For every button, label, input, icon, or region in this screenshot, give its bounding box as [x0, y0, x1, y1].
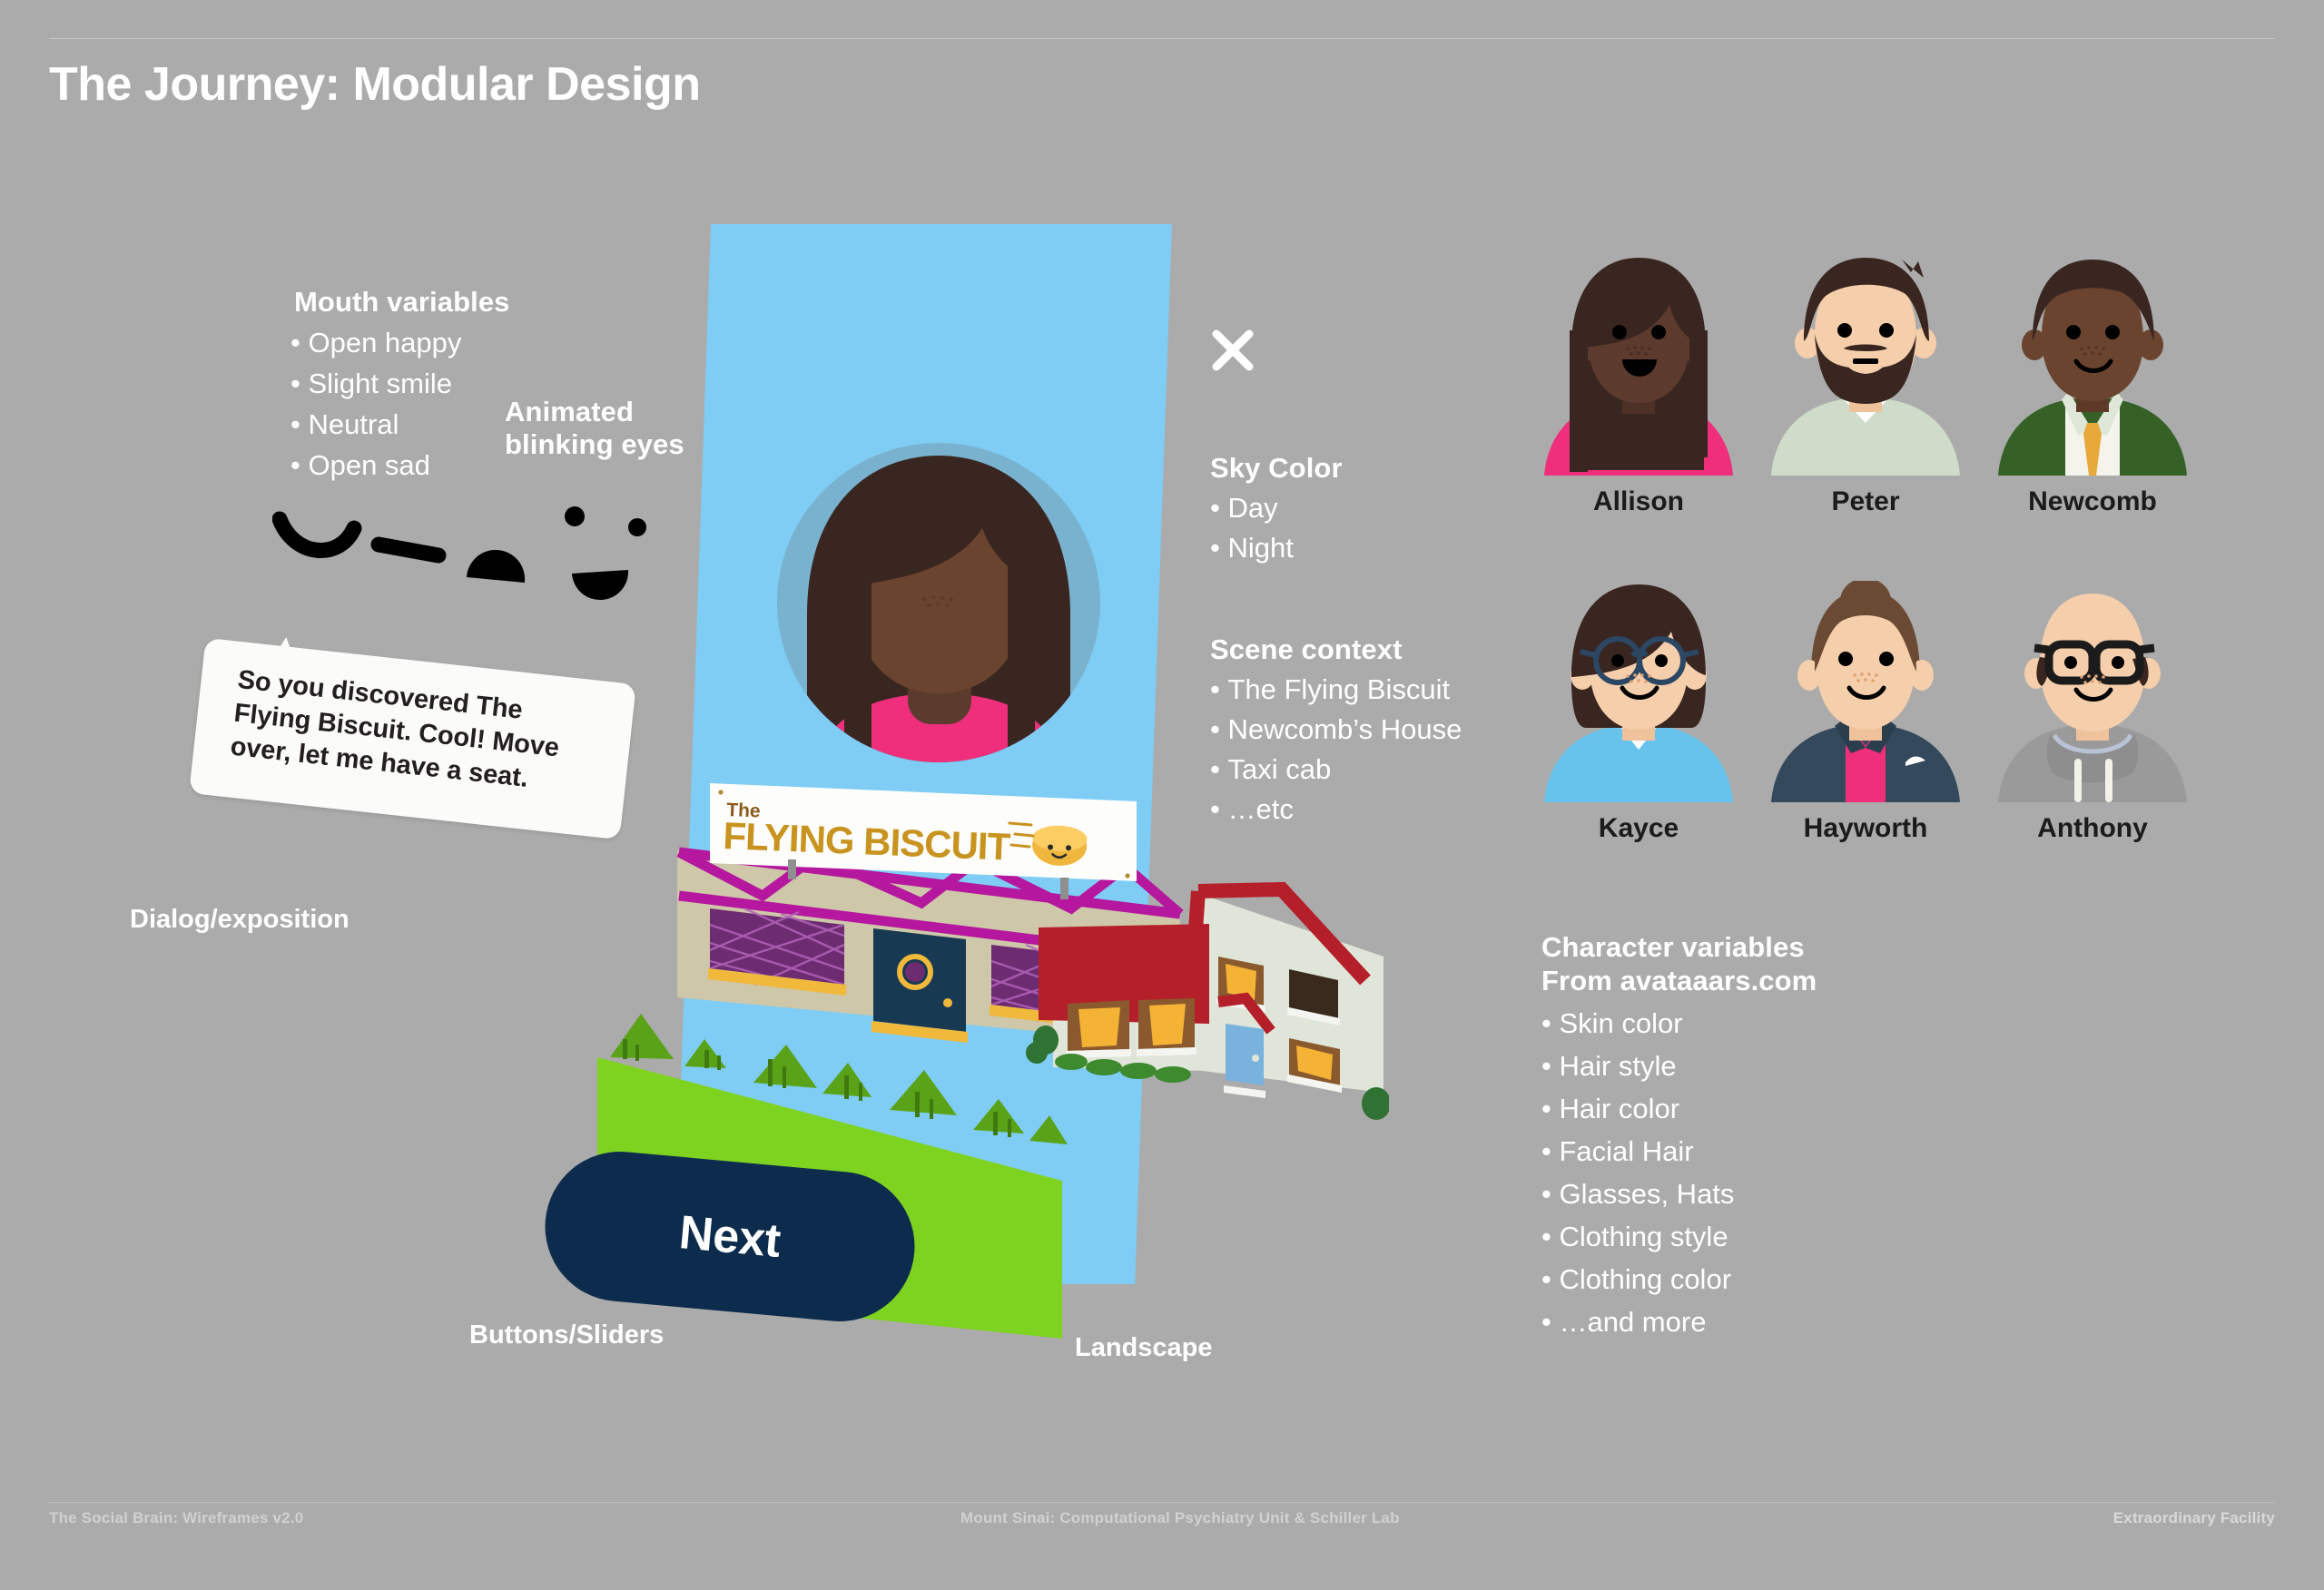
avatar-illustration-hayworth	[1768, 581, 1964, 804]
bullet-glyph: •	[1210, 793, 1227, 825]
bullet-glyph: •	[1541, 1263, 1559, 1295]
bullet-glyph: •	[1210, 532, 1227, 564]
character-variables-item-label: Hair color	[1559, 1093, 1679, 1124]
character-variables-item: • Clothing style	[1541, 1221, 1817, 1253]
footer-right: Extraordinary Facility	[2113, 1509, 2275, 1527]
scene-context-item: • …etc	[1210, 793, 1462, 826]
scene-context-item: • Taxi cab	[1210, 753, 1462, 786]
scene-context-annotation: Scene context • The Flying Biscuit • New…	[1210, 633, 1462, 826]
footer-divider	[49, 1502, 2275, 1503]
sky-color-item: • Day	[1210, 492, 1343, 525]
character-variables-item-label: Clothing style	[1559, 1221, 1728, 1252]
character-avatar-grid: Allison Peter	[1525, 254, 2206, 908]
character-variables-item-label: …and more	[1559, 1306, 1706, 1338]
avatar-name: Kayce	[1599, 813, 1679, 844]
character-variables-item: • Hair style	[1541, 1050, 1817, 1083]
character-variables-heading-2: From avataaars.com	[1541, 964, 1817, 997]
footer-center: Mount Sinai: Computational Psychiatry Un…	[960, 1509, 1400, 1527]
buttons-sliders-label: Buttons/Sliders	[469, 1320, 664, 1350]
character-variables-heading-1: Character variables	[1541, 930, 1817, 964]
bullet-glyph: •	[1541, 1221, 1559, 1252]
character-variables-item-label: Glasses, Hats	[1559, 1178, 1734, 1210]
avatar-card-newcomb[interactable]: Newcomb	[1979, 254, 2206, 581]
bullet-glyph: •	[1210, 753, 1227, 785]
avatar-card-hayworth[interactable]: Hayworth	[1752, 581, 1979, 908]
character-variables-item-label: Hair style	[1559, 1050, 1676, 1082]
avatar-card-allison[interactable]: Allison	[1525, 254, 1752, 581]
bullet-glyph: •	[1541, 1093, 1559, 1124]
character-variables-item: • Hair color	[1541, 1093, 1817, 1125]
avatar-name: Allison	[1593, 486, 1684, 517]
scene-avatar	[764, 434, 1114, 783]
landscape-label: Landscape	[1075, 1333, 1213, 1363]
avatar-card-peter[interactable]: Peter	[1752, 254, 1979, 581]
bullet-glyph: •	[1210, 492, 1227, 524]
character-variables-annotation: Character variables From avataaars.com •…	[1541, 930, 1817, 1339]
avatar-name: Peter	[1831, 486, 1899, 517]
avatar-name: Anthony	[2037, 813, 2148, 844]
avatar-illustration-newcomb	[1994, 254, 2191, 477]
scene-context-item-label: …etc	[1227, 793, 1293, 825]
avatar-card-anthony[interactable]: Anthony	[1979, 581, 2206, 908]
next-button-label: Next	[677, 1205, 783, 1269]
newcombs-house	[1017, 878, 1389, 1128]
scene-context-item: • The Flying Biscuit	[1210, 673, 1462, 706]
character-variables-item: • Facial Hair	[1541, 1135, 1817, 1168]
character-variables-item: • Glasses, Hats	[1541, 1178, 1817, 1211]
bullet-glyph: •	[1541, 1007, 1559, 1039]
character-variables-item-label: Skin color	[1559, 1007, 1682, 1039]
avatar-name: Newcomb	[2028, 486, 2157, 517]
sky-color-item: • Night	[1210, 532, 1343, 564]
avatar-illustration-kayce	[1541, 581, 1737, 804]
scene-context-heading: Scene context	[1210, 633, 1462, 666]
avatar-illustration-anthony	[1994, 581, 2191, 804]
avatar-illustration-allison	[1541, 254, 1737, 477]
sky-color-annotation: Sky Color • Day • Night	[1210, 452, 1343, 564]
bullet-glyph: •	[1210, 713, 1227, 745]
bullet-glyph: •	[1210, 673, 1227, 705]
sky-color-item-label: Night	[1227, 532, 1293, 564]
avatar-card-kayce[interactable]: Kayce	[1525, 581, 1752, 908]
avatar-name: Hayworth	[1804, 813, 1928, 844]
scene-context-item-label: The Flying Biscuit	[1227, 673, 1450, 705]
bullet-glyph: •	[1541, 1306, 1559, 1338]
character-variables-item-label: Facial Hair	[1559, 1135, 1693, 1167]
bullet-glyph: •	[1541, 1178, 1559, 1210]
avatar-illustration-peter	[1768, 254, 1964, 477]
scene-context-item: • Newcomb’s House	[1210, 713, 1462, 746]
character-variables-item-label: Clothing color	[1559, 1263, 1731, 1295]
close-icon[interactable]	[1212, 329, 1254, 371]
footer-left: The Social Brain: Wireframes v2.0	[49, 1509, 303, 1527]
sky-color-item-label: Day	[1227, 492, 1277, 524]
sky-color-heading: Sky Color	[1210, 452, 1343, 485]
scene-context-item-label: Taxi cab	[1227, 753, 1331, 785]
bullet-glyph: •	[1541, 1135, 1559, 1167]
bullet-glyph: •	[1541, 1050, 1559, 1082]
character-variables-item: • Clothing color	[1541, 1263, 1817, 1296]
character-variables-item: • Skin color	[1541, 1007, 1817, 1040]
character-variables-item: • …and more	[1541, 1306, 1817, 1339]
scene-context-item-label: Newcomb’s House	[1227, 713, 1462, 745]
